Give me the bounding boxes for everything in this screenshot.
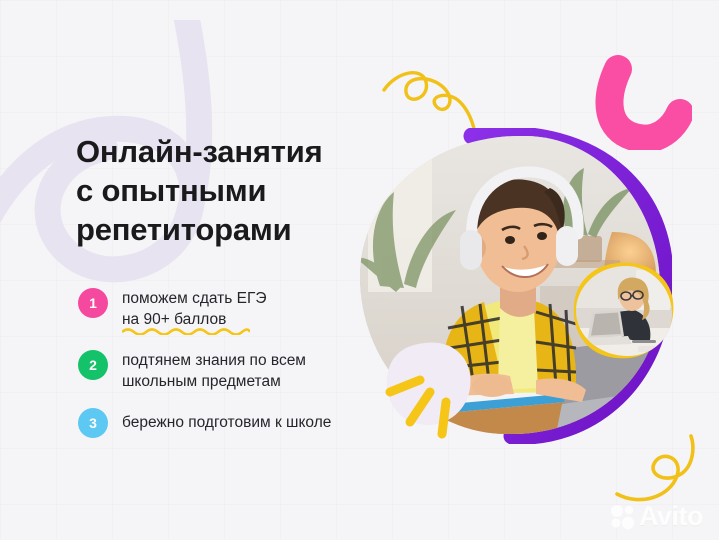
benefit-badge-2: 2 [78,350,108,380]
benefit-text-2: подтянем знания по всем школьным предмет… [122,346,306,392]
headline-line-2: с опытными [76,171,376,210]
benefit-badge-1: 1 [78,288,108,318]
list-item: 2 подтянем знания по всем школьным предм… [78,346,378,392]
benefit-2-line-1: подтянем знания по всем [122,350,306,371]
benefit-3-line-1: бережно подготовим к школе [122,412,331,433]
benefits-list: 1 поможем сдать ЕГЭ на 90+ баллов 2 подт… [78,284,378,438]
list-item: 3 бережно подготовим к школе [78,408,378,438]
headline-line-1: Онлайн-занятия [76,132,376,171]
avito-dots-icon [610,504,636,530]
benefit-1-line-1: поможем сдать ЕГЭ [122,288,267,309]
headline-line-3: репетиторами [76,210,376,249]
page-title: Онлайн-занятия с опытными репетиторами [76,132,376,249]
benefit-text-3: бережно подготовим к школе [122,408,331,433]
avito-wordmark: Avito [639,503,703,530]
yellow-squiggle-bottom-icon [603,432,713,512]
tutor-photo [576,266,672,356]
tutor-photo-illustration [576,266,672,356]
tutor-inset-photo [572,262,676,360]
list-item: 1 поможем сдать ЕГЭ на 90+ баллов [78,284,378,330]
promo-banner: Онлайн-занятия с опытными репетиторами 1… [0,0,719,540]
benefit-2-line-2: школьным предметам [122,371,306,392]
benefit-text-1: поможем сдать ЕГЭ на 90+ баллов [122,284,267,330]
benefit-badge-3: 3 [78,408,108,438]
avito-watermark: Avito [610,503,703,530]
yellow-wavy-underline [122,327,250,335]
